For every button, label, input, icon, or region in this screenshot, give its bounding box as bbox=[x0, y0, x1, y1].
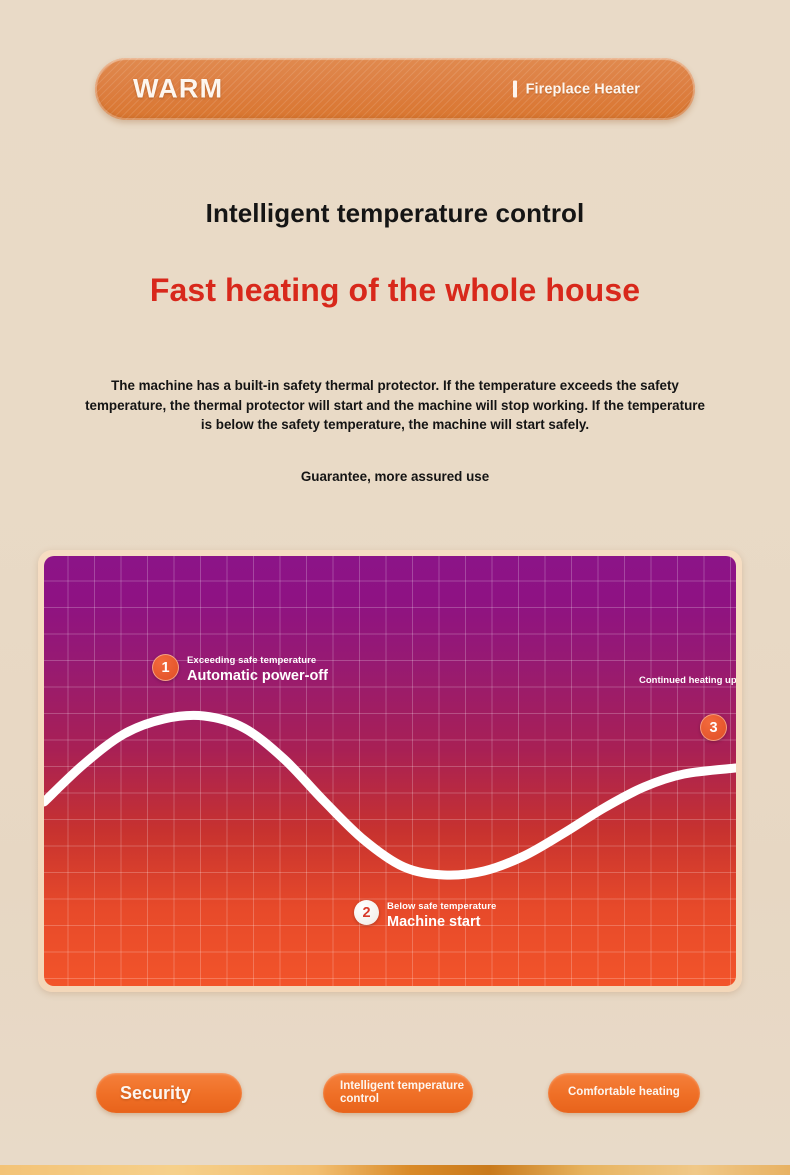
page-title: Intelligent temperature control bbox=[0, 198, 790, 229]
chart-frame: 1 Exceeding safe temperature Automatic p… bbox=[38, 550, 742, 992]
banner-subtitle: Fireplace Heater bbox=[526, 81, 640, 97]
product-detail-page: WARM Fireplace Heater Intelligent temper… bbox=[0, 0, 790, 1175]
feature-pill-comfortable-heating[interactable]: Comfortable heating bbox=[548, 1073, 700, 1113]
annotation-2-title: Machine start bbox=[387, 914, 496, 931]
guarantee-note: Guarantee, more assured use bbox=[80, 469, 710, 484]
feature-pill-intelligent-temperature-control[interactable]: Intelligent temperature control bbox=[323, 1073, 473, 1113]
header-banner: WARM Fireplace Heater bbox=[95, 58, 695, 120]
temperature-curve bbox=[44, 715, 736, 875]
annotation-1-title: Automatic power-off bbox=[187, 668, 328, 685]
chart-annotation-1: 1 Exceeding safe temperature Automatic p… bbox=[152, 654, 328, 685]
temperature-chart: 1 Exceeding safe temperature Automatic p… bbox=[44, 556, 736, 986]
annotation-2-text: Below safe temperature Machine start bbox=[387, 900, 496, 931]
banner-surface: WARM Fireplace Heater bbox=[95, 58, 695, 120]
banner-title: WARM bbox=[133, 74, 223, 105]
banner-right-group: Fireplace Heater bbox=[513, 81, 640, 98]
bottom-accent-strip bbox=[0, 1165, 790, 1175]
annotation-3-caption: Continued heating up bbox=[639, 675, 736, 687]
annotation-2-caption: Below safe temperature bbox=[387, 901, 496, 913]
annotation-badge-3: 3 bbox=[700, 714, 727, 741]
annotation-1-text: Exceeding safe temperature Automatic pow… bbox=[187, 654, 328, 685]
description-paragraph: The machine has a built-in safety therma… bbox=[80, 376, 710, 435]
feature-pill-security[interactable]: Security bbox=[96, 1073, 242, 1113]
annotation-badge-1: 1 bbox=[152, 654, 179, 681]
annotation-badge-2: 2 bbox=[354, 900, 379, 925]
vertical-bar-icon bbox=[513, 81, 517, 98]
annotation-1-caption: Exceeding safe temperature bbox=[187, 655, 328, 667]
chart-annotation-2: 2 Below safe temperature Machine start bbox=[354, 900, 496, 931]
page-subtitle: Fast heating of the whole house bbox=[0, 272, 790, 309]
